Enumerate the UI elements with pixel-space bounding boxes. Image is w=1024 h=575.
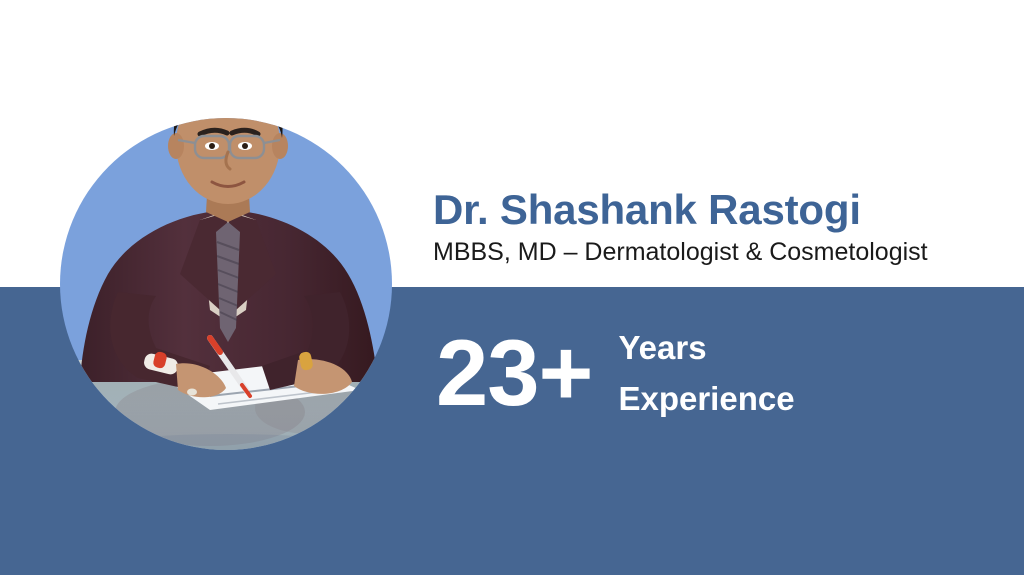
- doctor-name: Dr. Shashank Rastogi: [433, 186, 1013, 234]
- experience-years-number: 23+: [436, 326, 592, 420]
- experience-block: 23+ Years Experience: [436, 322, 795, 424]
- doctor-credentials: MBBS, MD – Dermatologist & Cosmetologist: [433, 238, 1013, 267]
- doctor-identity: Dr. Shashank Rastogi MBBS, MD – Dermatol…: [433, 186, 1013, 267]
- experience-label-line1: Years: [618, 322, 794, 373]
- experience-label: Years Experience: [618, 322, 794, 424]
- portrait-block: [60, 60, 396, 456]
- doctor-portrait-photo: [60, 60, 396, 456]
- doctor-profile-banner: Dr. Shashank Rastogi MBBS, MD – Dermatol…: [0, 0, 1024, 575]
- experience-label-line2: Experience: [618, 373, 794, 424]
